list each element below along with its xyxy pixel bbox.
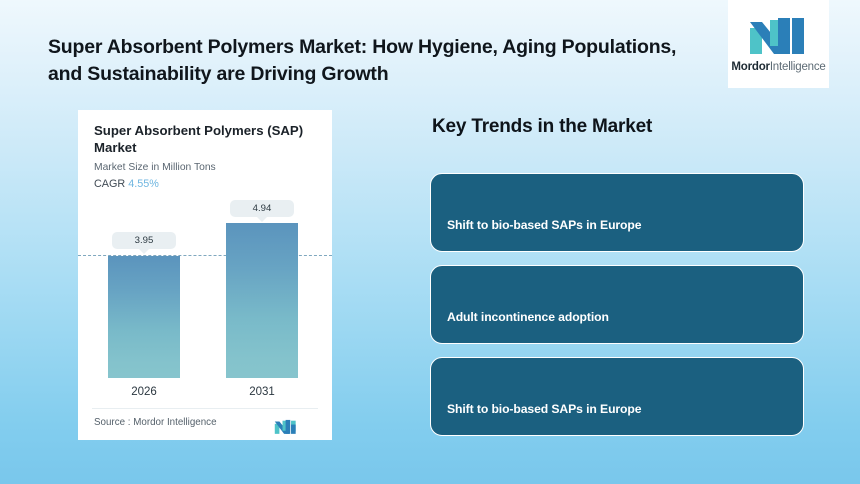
bar-value-chip-2031: 4.94 bbox=[230, 200, 294, 217]
trend-card-1[interactable]: Shift to bio-based SAPs in Europe bbox=[430, 173, 804, 252]
bar-value-chip-pointer-2031 bbox=[257, 217, 267, 222]
brand-wordmark: MordorIntelligence bbox=[731, 61, 825, 73]
chart-title: Super Absorbent Polymers (SAP) Market bbox=[94, 122, 312, 157]
card-divider bbox=[92, 408, 318, 409]
bar-value-chip-2026: 3.95 bbox=[112, 232, 176, 249]
bar-2026 bbox=[108, 256, 180, 378]
mordor-intelligence-mark-icon bbox=[274, 419, 298, 434]
axis-label-2031: 2031 bbox=[226, 386, 298, 398]
bar-value-chip-pointer-2026 bbox=[139, 249, 149, 254]
chart-cagr: CAGR4.55% bbox=[94, 178, 159, 190]
source-label: Source : Mordor Intelligence bbox=[94, 417, 217, 428]
bar-2031 bbox=[226, 223, 298, 378]
trend-card-3-label: Shift to bio-based SAPs in Europe bbox=[447, 402, 641, 416]
trend-card-3[interactable]: Shift to bio-based SAPs in Europe bbox=[430, 357, 804, 436]
page-title: Super Absorbent Polymers Market: How Hyg… bbox=[48, 34, 708, 88]
trend-card-1-label: Shift to bio-based SAPs in Europe bbox=[447, 218, 641, 232]
chart-plot-area: 3.95 4.94 bbox=[78, 196, 332, 378]
brand-logo: MordorIntelligence bbox=[728, 0, 829, 88]
cagr-value: 4.55% bbox=[128, 178, 159, 190]
trend-card-2-label: Adult incontinence adoption bbox=[447, 310, 609, 324]
axis-label-2026: 2026 bbox=[108, 386, 180, 398]
chart-card: Super Absorbent Polymers (SAP) Market Ma… bbox=[78, 110, 332, 440]
cagr-label: CAGR bbox=[94, 178, 125, 190]
trend-card-2[interactable]: Adult incontinence adoption bbox=[430, 265, 804, 344]
slide-canvas: MordorIntelligence Super Absorbent Polym… bbox=[0, 0, 860, 484]
brand-name-bold: Mordor bbox=[731, 61, 769, 73]
brand-name-light: Intelligence bbox=[770, 61, 826, 73]
trends-heading: Key Trends in the Market bbox=[432, 116, 652, 138]
mordor-intelligence-logo-icon bbox=[748, 16, 810, 54]
chart-subtitle: Market Size in Million Tons bbox=[94, 162, 216, 173]
